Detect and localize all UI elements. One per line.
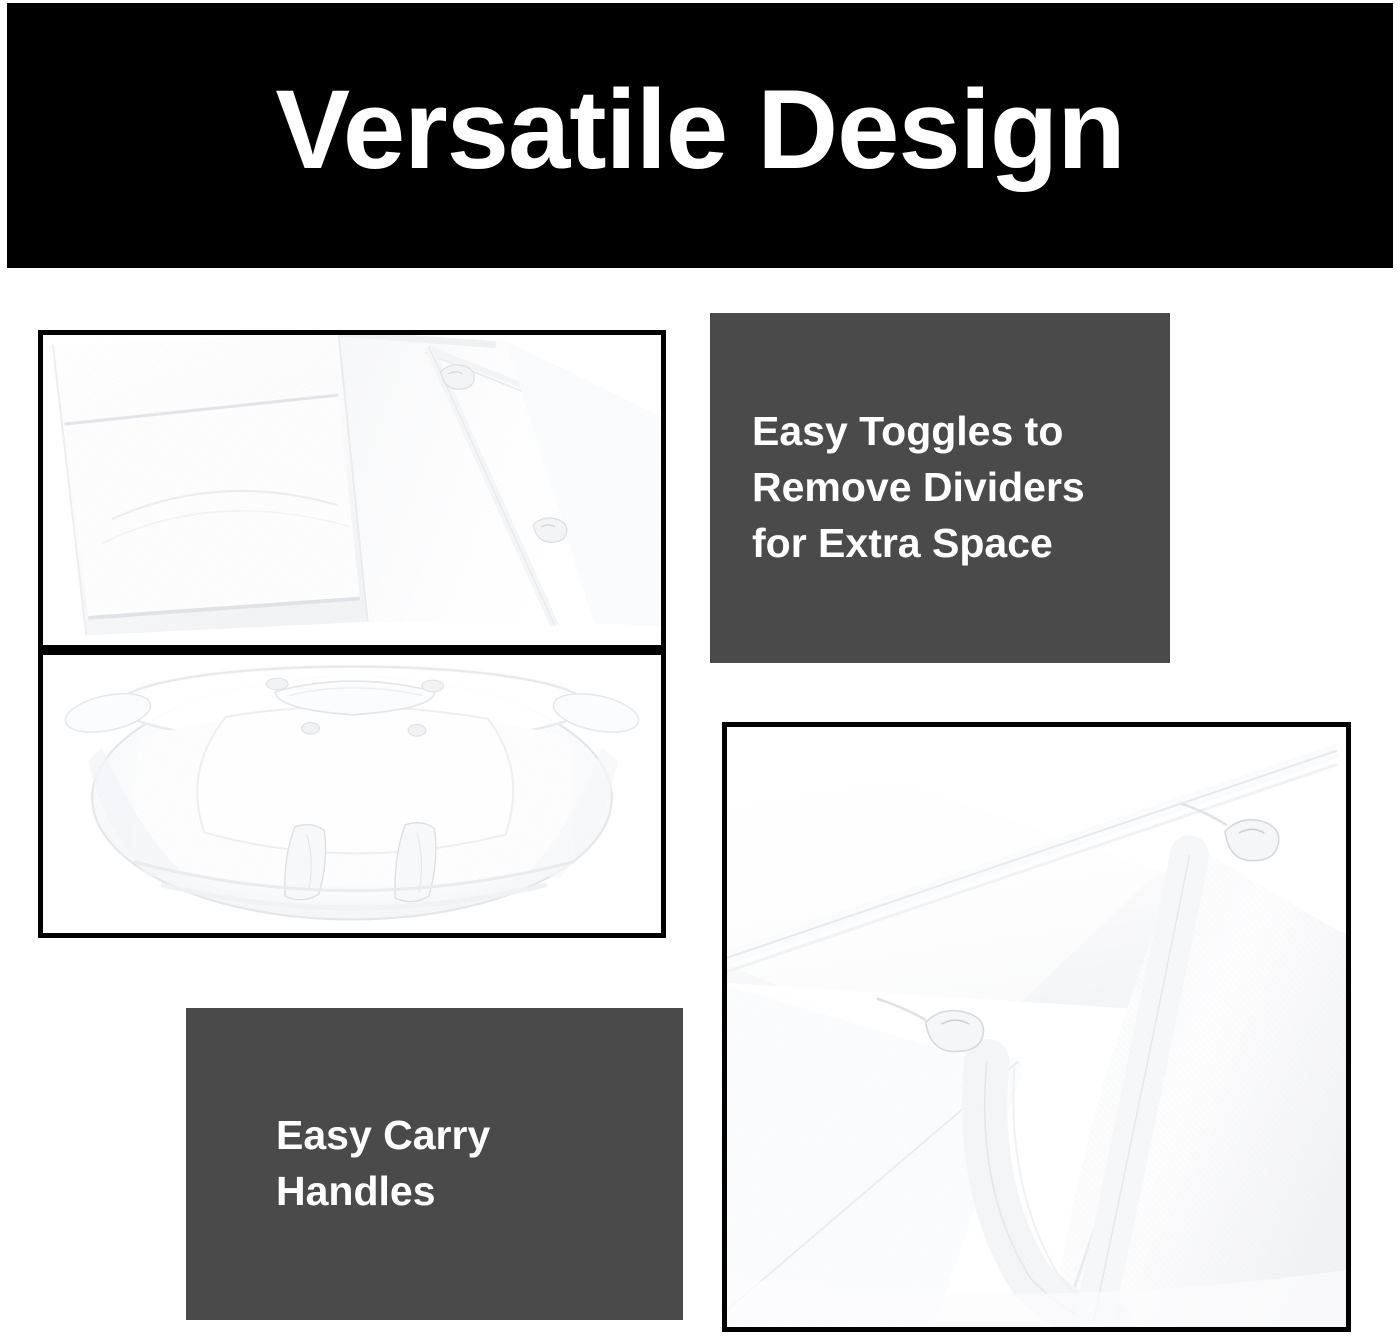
caption-toggles-line-3: for Extra Space xyxy=(752,516,1085,572)
infographic-page: Versatile Design xyxy=(0,0,1400,1337)
header-banner: Versatile Design xyxy=(7,3,1393,268)
handle-closeup-illustration xyxy=(727,727,1346,1327)
photo-handle-closeup xyxy=(722,722,1351,1332)
photo-topdown-hamper xyxy=(38,650,666,938)
topdown-hamper-illustration xyxy=(43,655,661,933)
photo-handle-closeup-image xyxy=(727,727,1346,1327)
caption-toggles-text: Easy Toggles to Remove Dividers for Extr… xyxy=(752,404,1085,571)
divided-hamper-illustration xyxy=(43,335,661,645)
caption-panel-handles: Easy Carry Handles xyxy=(186,1008,683,1320)
caption-panel-toggles: Easy Toggles to Remove Dividers for Extr… xyxy=(710,313,1170,663)
photo-divided-hamper-image xyxy=(43,335,661,645)
page-title: Versatile Design xyxy=(7,3,1393,268)
divider-anchor-left xyxy=(302,723,320,735)
caption-handles-line-2: Handles xyxy=(276,1164,490,1220)
caption-handles-text: Easy Carry Handles xyxy=(276,1108,490,1220)
caption-toggles-line-1: Easy Toggles to xyxy=(752,404,1085,460)
photo-topdown-hamper-image xyxy=(43,655,661,933)
caption-handles-line-1: Easy Carry xyxy=(276,1108,490,1164)
caption-toggles-line-2: Remove Dividers xyxy=(752,460,1085,516)
divider-anchor-right xyxy=(408,725,426,737)
photo-divided-hamper xyxy=(38,330,666,650)
